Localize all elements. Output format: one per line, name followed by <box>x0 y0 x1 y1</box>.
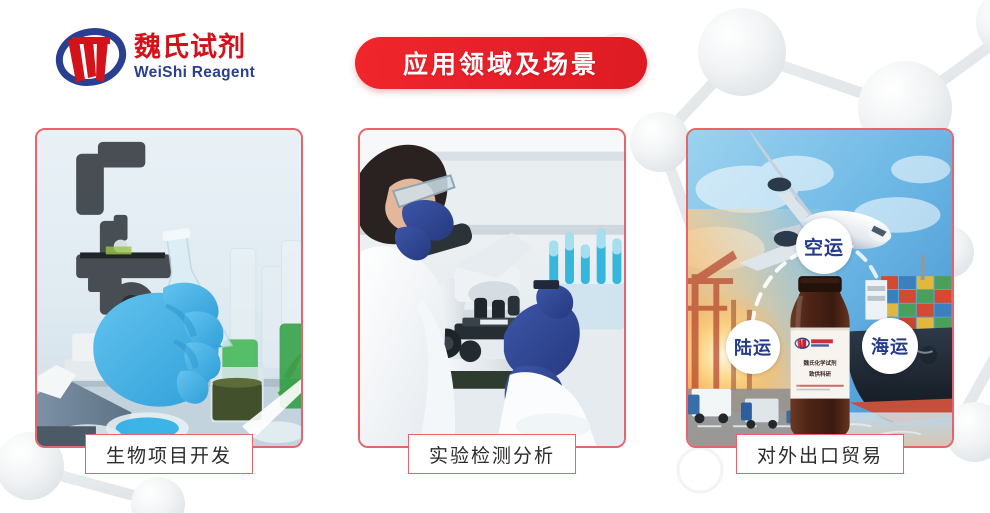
application-cards-row: 生物项目开发 <box>0 128 990 478</box>
card-caption-text: 生物项目开发 <box>106 441 232 468</box>
card-caption-box: 实验检测分析 <box>408 434 576 474</box>
brand-name-en: WeiShi Reagent <box>134 65 255 81</box>
card-caption-box: 对外出口贸易 <box>736 434 904 474</box>
card-caption-text: 实验检测分析 <box>429 441 555 468</box>
application-card-export-trade[interactable]: 魏氏化学试剂 致供科研 空运 陆运 海运 <box>686 128 954 448</box>
card-photo-frame <box>358 128 626 448</box>
promotional-banner-page: 魏氏试剂 WeiShi Reagent 应用领域及场景 <box>0 0 990 513</box>
svg-text:魏氏化学试剂: 魏氏化学试剂 <box>802 359 837 367</box>
page-header: 魏氏试剂 WeiShi Reagent 应用领域及场景 <box>0 0 990 120</box>
card-photo-frame <box>35 128 303 448</box>
global-logistics-air-land-sea-image: 魏氏化学试剂 致供科研 <box>688 130 952 446</box>
weishi-w-emblem-icon <box>52 24 130 90</box>
section-title-text: 应用领域及场景 <box>403 45 599 81</box>
application-card-lab-testing[interactable]: 实验检测分析 <box>358 128 626 448</box>
application-card-bio-development[interactable]: 生物项目开发 <box>35 128 303 448</box>
sea-freight-badge: 海运 <box>862 318 918 374</box>
brand-logo-text: 魏氏试剂 WeiShi Reagent <box>134 34 255 81</box>
card-photo-frame: 魏氏化学试剂 致供科研 空运 陆运 海运 <box>686 128 954 448</box>
svg-text:致供科研: 致供科研 <box>809 370 832 378</box>
air-freight-badge: 空运 <box>796 218 852 274</box>
researcher-using-microscope-image <box>360 130 624 446</box>
section-title-banner: 应用领域及场景 <box>355 37 647 89</box>
air-freight-label: 空运 <box>804 233 844 260</box>
land-freight-label: 陆运 <box>734 334 772 360</box>
card-caption-box: 生物项目开发 <box>85 434 253 474</box>
land-freight-badge: 陆运 <box>726 320 780 374</box>
sea-freight-label: 海运 <box>871 333 909 359</box>
lab-gloved-hand-holding-blue-flask-image <box>37 130 301 446</box>
brand-name-cn: 魏氏试剂 <box>134 34 255 61</box>
card-caption-text: 对外出口贸易 <box>757 441 883 468</box>
brand-logo[interactable]: 魏氏试剂 WeiShi Reagent <box>52 22 312 92</box>
